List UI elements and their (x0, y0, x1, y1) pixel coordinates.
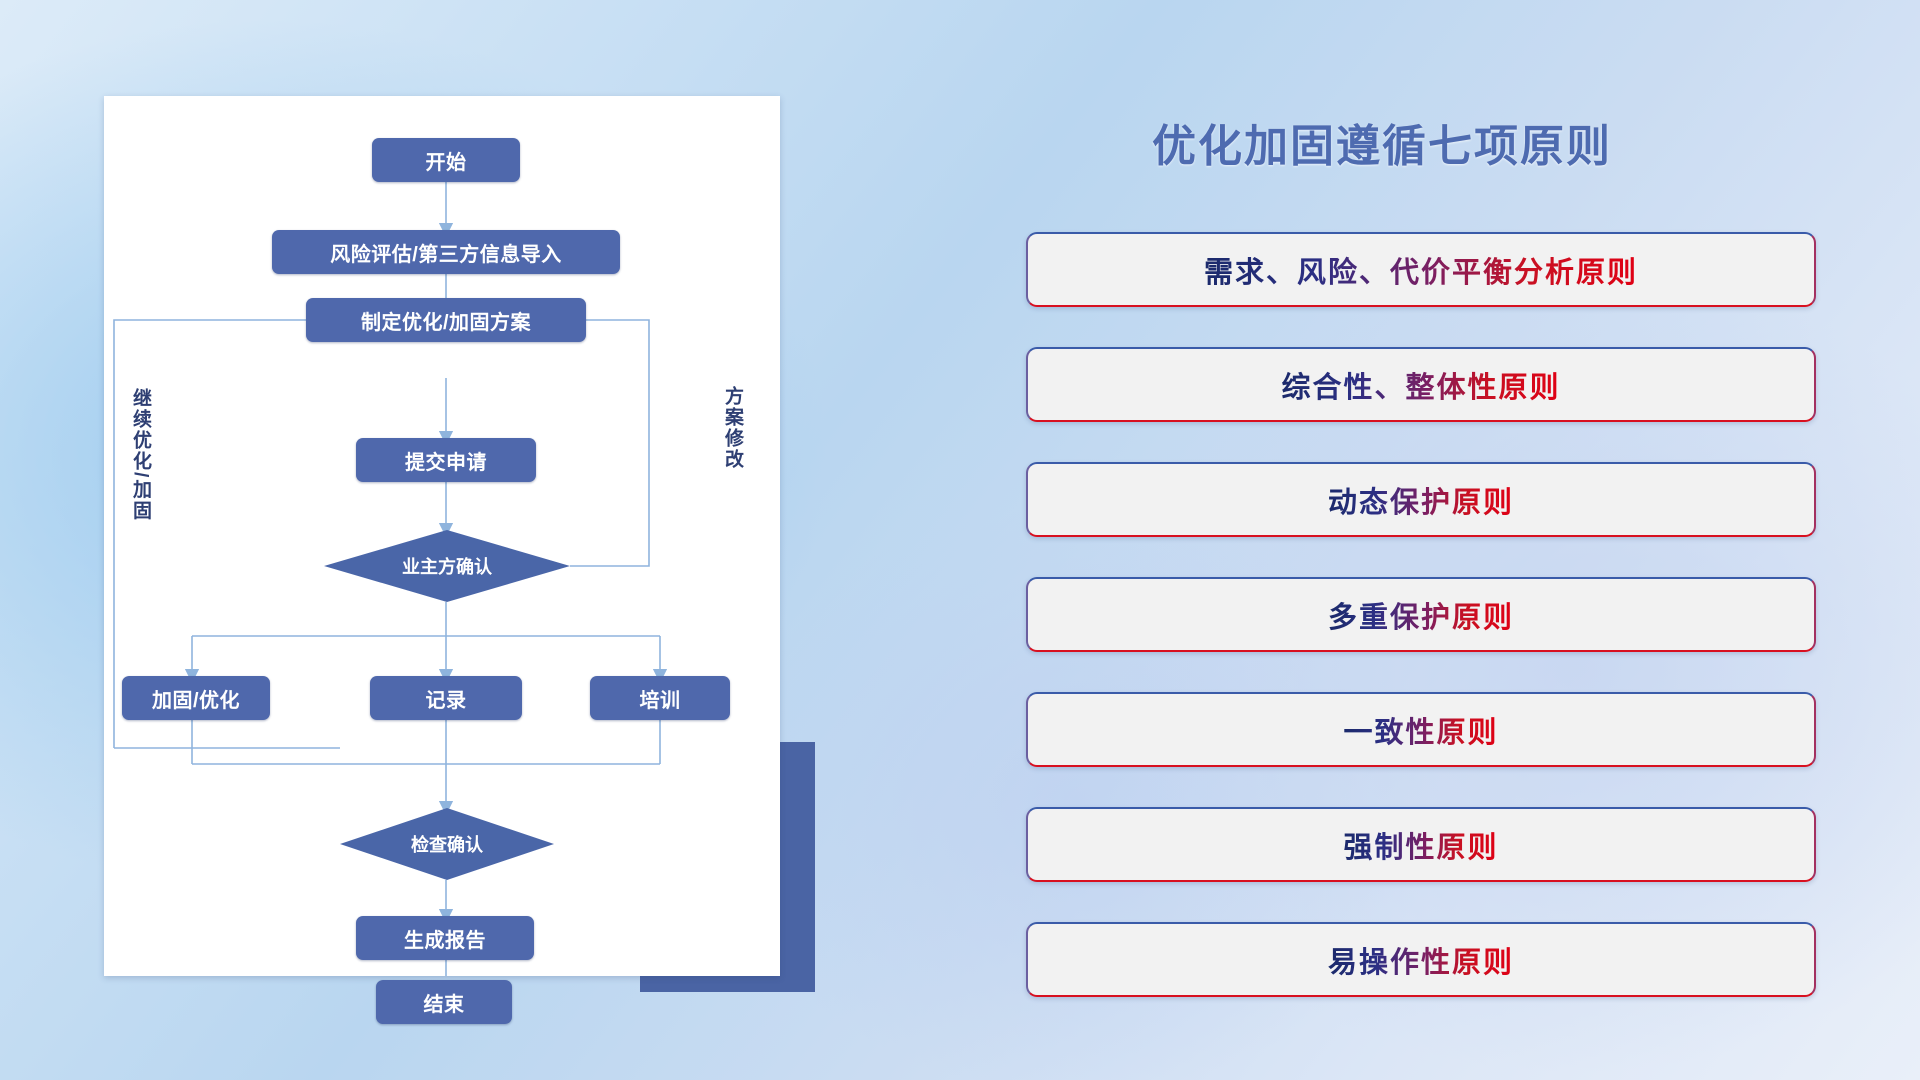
principle-label: 需求、风险、代价平衡分析原则 (1204, 249, 1638, 291)
flow-node-label: 业主方确认 (402, 553, 492, 579)
edge-label-continue-optimize: 继续优化/加固 (130, 388, 150, 521)
flow-node-label: 结束 (424, 988, 465, 1017)
flow-node-generate-report[interactable]: 生成报告 (356, 916, 534, 960)
flow-node-label: 加固/优化 (152, 684, 240, 713)
principle-item[interactable]: 综合性、整体性原则 (1026, 347, 1816, 422)
principle-label: 综合性、整体性原则 (1281, 364, 1560, 406)
flow-node-record[interactable]: 记录 (370, 676, 522, 720)
flow-node-label: 制定优化/加固方案 (361, 306, 531, 335)
flowchart-card: 开始 风险评估/第三方信息导入 制定优化/加固方案 提交申请 业主方确认 加固/… (104, 96, 780, 976)
flow-node-plan[interactable]: 制定优化/加固方案 (306, 298, 586, 342)
flow-node-inspection-confirm[interactable]: 检查确认 (340, 808, 554, 880)
flow-node-owner-confirm[interactable]: 业主方确认 (324, 530, 570, 602)
flow-node-label: 检查确认 (411, 831, 483, 857)
principle-label: 强制性原则 (1343, 824, 1498, 866)
principle-item[interactable]: 强制性原则 (1026, 807, 1816, 882)
flow-node-start[interactable]: 开始 (372, 138, 520, 182)
principle-label: 易操作性原则 (1328, 939, 1514, 981)
principle-item[interactable]: 多重保护原则 (1026, 577, 1816, 652)
flow-node-label: 培训 (640, 684, 681, 713)
principle-label: 一致性原则 (1343, 709, 1498, 751)
flow-node-submit-application[interactable]: 提交申请 (356, 438, 536, 482)
principle-item[interactable]: 一致性原则 (1026, 692, 1816, 767)
flow-node-label: 提交申请 (405, 446, 487, 475)
flow-node-end[interactable]: 结束 (376, 980, 512, 1024)
principles-list: 需求、风险、代价平衡分析原则 综合性、整体性原则 动态保护原则 多重保护原则 一… (1026, 232, 1816, 1037)
principle-item[interactable]: 动态保护原则 (1026, 462, 1816, 537)
flow-node-label: 生成报告 (404, 924, 486, 953)
flow-node-label: 开始 (426, 146, 467, 175)
slide-canvas: 开始 风险评估/第三方信息导入 制定优化/加固方案 提交申请 业主方确认 加固/… (0, 0, 1920, 1080)
flow-node-risk-assessment[interactable]: 风险评估/第三方信息导入 (272, 230, 620, 274)
principle-label: 多重保护原则 (1328, 594, 1514, 636)
page-title: 优化加固遵循七项原则 (1152, 110, 1612, 174)
flow-node-label: 记录 (426, 684, 467, 713)
edge-label-plan-revision: 方案修改 (722, 386, 742, 470)
principle-item[interactable]: 需求、风险、代价平衡分析原则 (1026, 232, 1816, 307)
flow-node-label: 风险评估/第三方信息导入 (330, 238, 562, 267)
flow-node-reinforce-optimize[interactable]: 加固/优化 (122, 676, 270, 720)
flow-node-training[interactable]: 培训 (590, 676, 730, 720)
principle-item[interactable]: 易操作性原则 (1026, 922, 1816, 997)
principle-label: 动态保护原则 (1328, 479, 1514, 521)
